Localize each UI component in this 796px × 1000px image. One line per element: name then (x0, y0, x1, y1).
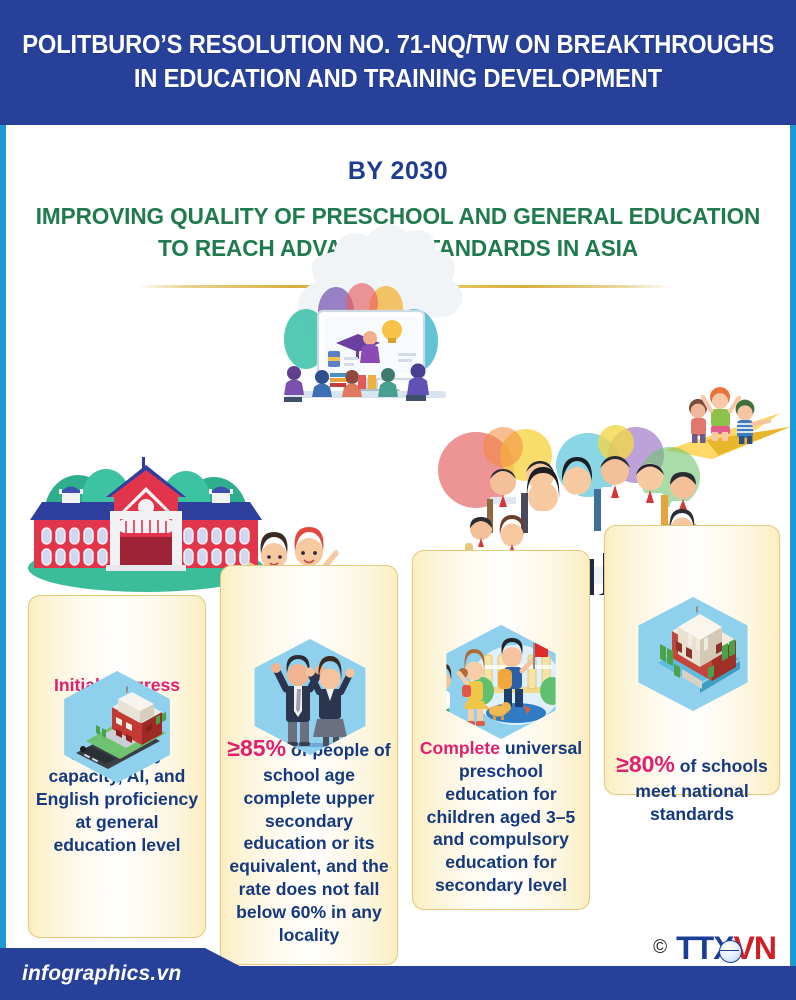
infographic-page: POLITBURO’S RESOLUTION NO. 71-NQ/TW ON B… (0, 0, 796, 1000)
header-banner: POLITBURO’S RESOLUTION NO. 71-NQ/TW ON B… (0, 0, 796, 125)
content-frame: BY 2030 IMPROVING QUALITY OF PRESCHOOL A… (0, 125, 796, 1000)
cards-row: Initial progress recorded in enhancing t… (6, 125, 790, 1000)
card-2-highlight: ≥85% (227, 735, 286, 761)
watermark-text: infographics.vn (0, 962, 181, 986)
card-2-text: ≥85% of people of school age complete up… (227, 734, 391, 947)
card-3-highlight: Complete (420, 738, 500, 758)
card-2-body: of people of school age complete upper s… (229, 740, 390, 945)
globe-icon (719, 940, 742, 963)
copyright-icon: © (653, 937, 667, 959)
card-4-highlight: ≥80% (616, 751, 675, 777)
card-3-body: universal preschool education for childr… (427, 738, 582, 895)
ttxvn-logo: TTXVN Vietnam News Agency (676, 932, 776, 964)
ttxvn-credit: © TTXVN Vietnam News Agency (653, 932, 776, 964)
card-2: ≥85% of people of school age complete up… (220, 565, 398, 965)
header-title-line-2: IN EDUCATION AND TRAINING DEVELOPMENT (134, 63, 662, 97)
header-title-line-1: POLITBURO’S RESOLUTION NO. 71-NQ/TW ON B… (22, 29, 774, 63)
watermark-ribbon: infographics.vn (0, 948, 255, 1000)
card-4-text: ≥80% of schools meet national standards (611, 750, 773, 826)
card-3-text: Complete universal preschool education f… (419, 737, 583, 897)
